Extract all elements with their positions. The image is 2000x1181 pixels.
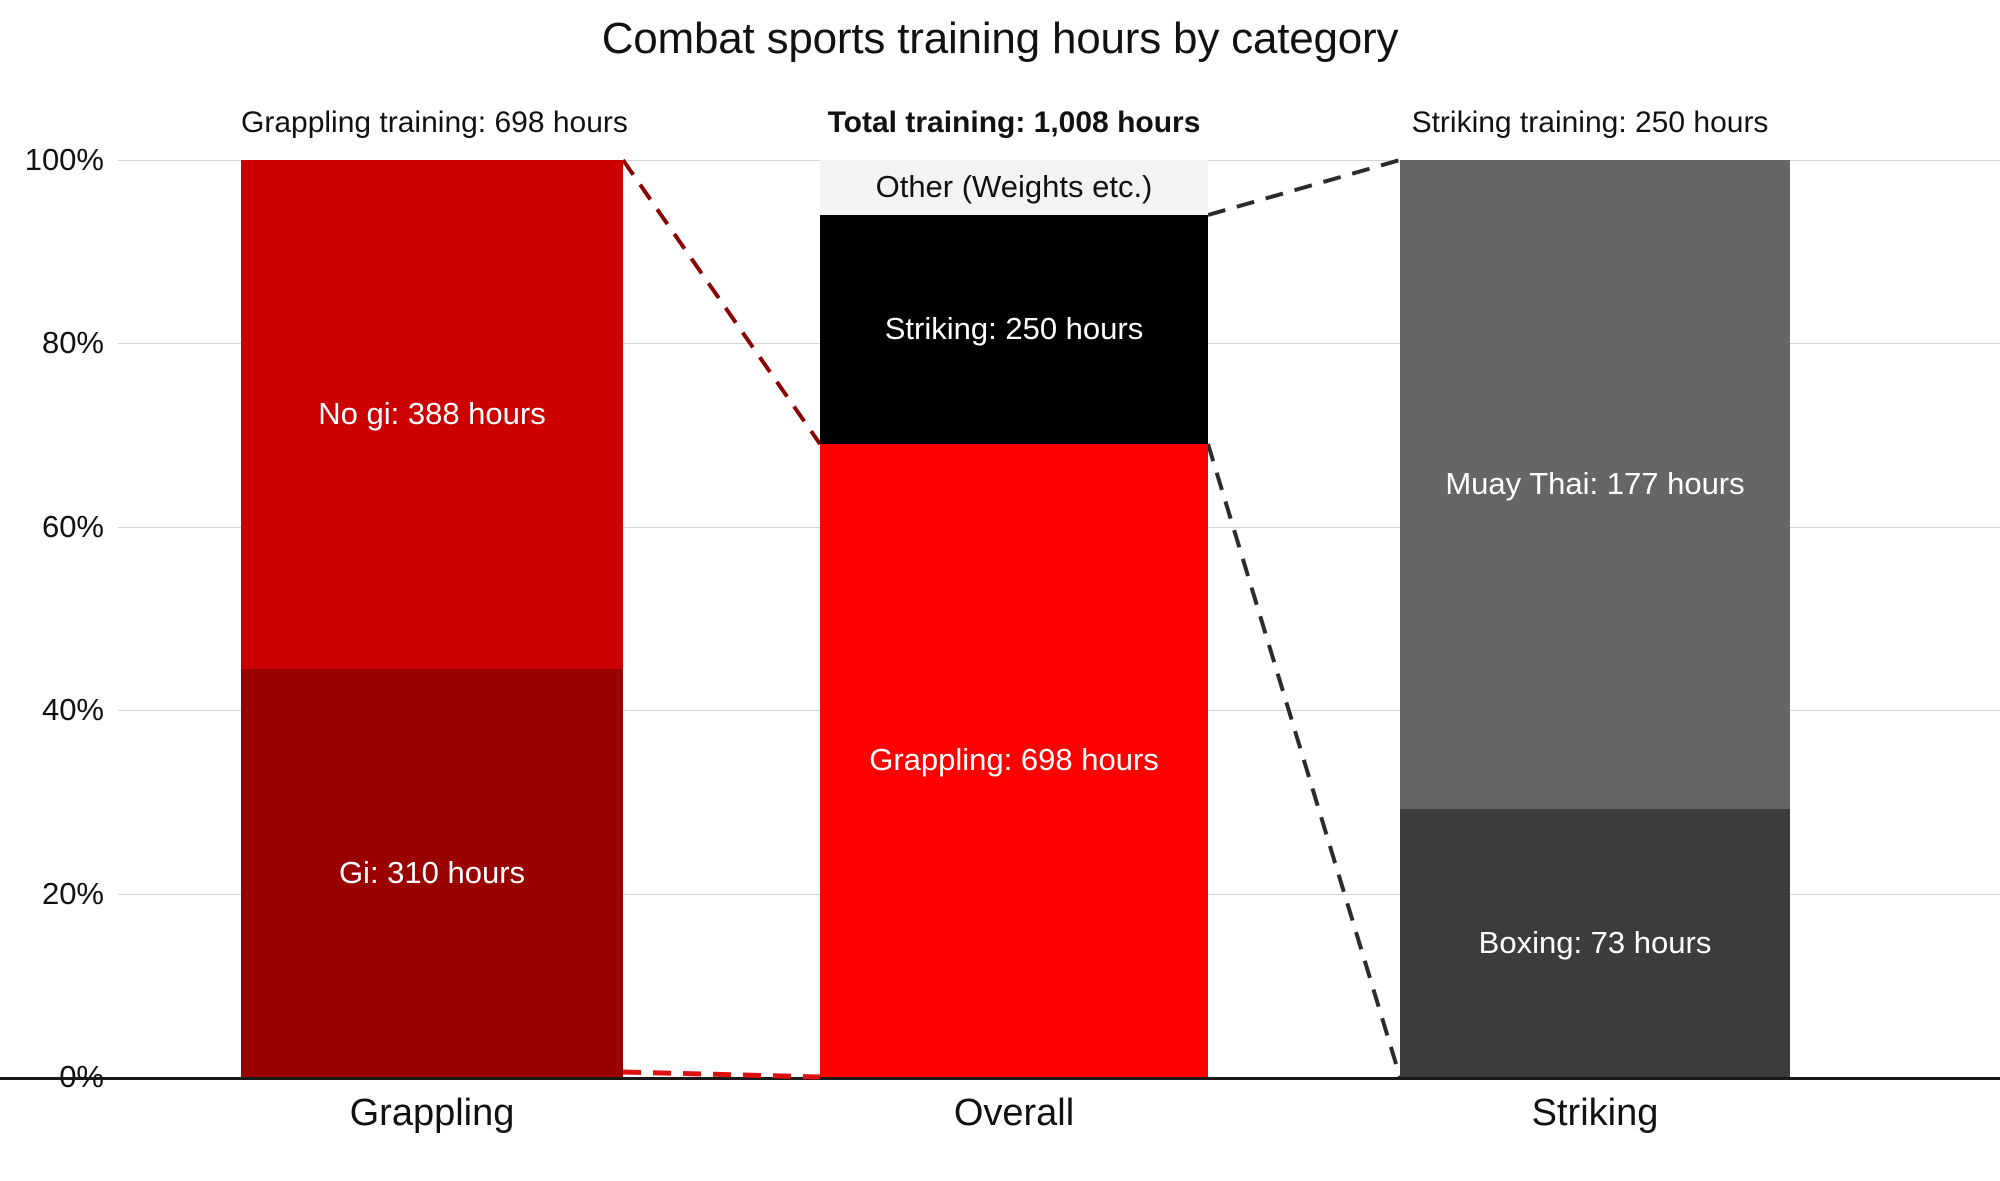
segment-boxing[interactable]: Boxing: 73 hours <box>1400 809 1790 1077</box>
segment-label-gi: Gi: 310 hours <box>333 856 531 890</box>
bar-grappling[interactable]: No gi: 388 hours Gi: 310 hours <box>241 160 623 1077</box>
segment-label-grappling-overall: Grappling: 698 hours <box>863 743 1165 777</box>
xaxis-label-grappling: Grappling <box>241 1092 623 1135</box>
segment-label-other: Other (Weights etc.) <box>870 170 1159 204</box>
column-annotation-striking: Striking training: 250 hours <box>1390 106 1790 140</box>
segment-muay-thai[interactable]: Muay Thai: 177 hours <box>1400 160 1790 809</box>
plot-area: 100% 80% 60% 40% 20% 0% Grappling traini… <box>0 0 2000 1181</box>
xaxis-label-striking: Striking <box>1400 1092 1790 1135</box>
connector-striking-top <box>1208 160 1400 215</box>
segment-label-muay-thai: Muay Thai: 177 hours <box>1439 467 1750 501</box>
ytick-label-60: 60% <box>0 509 104 545</box>
axis-baseline <box>0 1077 2000 1080</box>
bar-overall[interactable]: Other (Weights etc.) Striking: 250 hours… <box>820 160 1208 1077</box>
ytick-label-100: 100% <box>0 142 104 178</box>
connector-grappling-top <box>623 160 820 444</box>
xaxis-label-overall: Overall <box>820 1092 1208 1135</box>
segment-label-no-gi: No gi: 388 hours <box>312 397 551 431</box>
segment-gi[interactable]: Gi: 310 hours <box>241 669 623 1077</box>
segment-label-striking-overall: Striking: 250 hours <box>879 312 1149 346</box>
segment-grappling-overall[interactable]: Grappling: 698 hours <box>820 444 1208 1077</box>
segment-no-gi[interactable]: No gi: 388 hours <box>241 160 623 669</box>
column-annotation-grappling: Grappling training: 698 hours <box>241 106 623 140</box>
column-annotation-overall: Total training: 1,008 hours <box>820 106 1208 140</box>
segment-label-boxing: Boxing: 73 hours <box>1473 926 1718 960</box>
segment-other[interactable]: Other (Weights etc.) <box>820 160 1208 215</box>
ytick-label-0: 0% <box>0 1059 104 1095</box>
connector-striking-bottom <box>1208 444 1400 1077</box>
ytick-label-20: 20% <box>0 876 104 912</box>
bar-striking[interactable]: Muay Thai: 177 hours Boxing: 73 hours <box>1400 160 1790 1077</box>
ytick-label-40: 40% <box>0 692 104 728</box>
segment-striking-overall[interactable]: Striking: 250 hours <box>820 215 1208 444</box>
ytick-label-80: 80% <box>0 325 104 361</box>
